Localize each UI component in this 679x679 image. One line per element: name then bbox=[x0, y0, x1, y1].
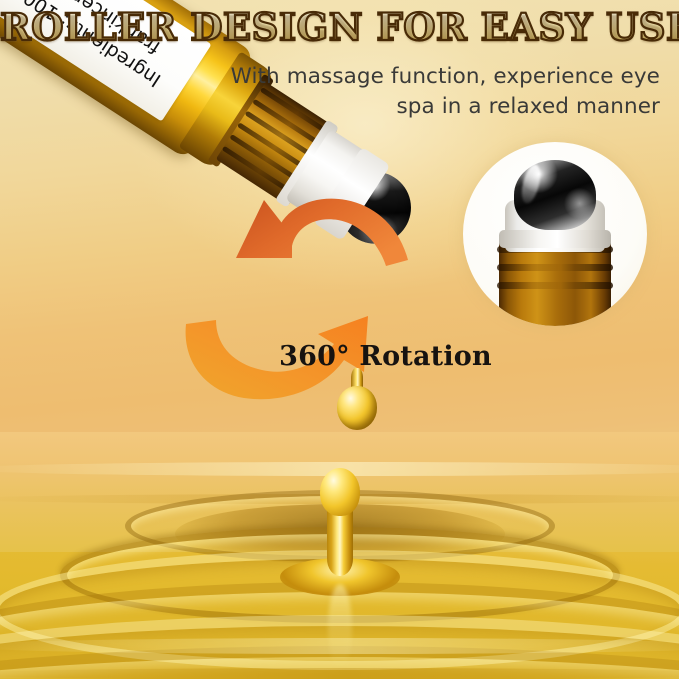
subtitle: With massage function, experience eye sp… bbox=[190, 62, 660, 121]
page-title: ROLLER DESIGN FOR EASY USE bbox=[0, 8, 679, 47]
headline-text: ROLLER DESIGN FOR EASY USE bbox=[0, 8, 679, 47]
subtitle-line-2: spa in a relaxed manner bbox=[190, 92, 660, 122]
oil-splash-reflection bbox=[328, 584, 352, 670]
closeup-roller-collar bbox=[499, 230, 611, 248]
rotation-closeup-inset bbox=[463, 142, 647, 326]
oil-splash-bulb bbox=[320, 468, 360, 516]
product-feature-banner: Ingredients: 100% organic c frankincense… bbox=[0, 0, 679, 679]
droplet-bulb bbox=[337, 386, 377, 430]
rotation-arrow-top bbox=[218, 184, 418, 294]
rotation-caption-text: 360° Rotation bbox=[279, 341, 492, 372]
closeup-neck-thread bbox=[497, 282, 613, 289]
oil-droplet-icon bbox=[335, 368, 379, 430]
closeup-neck-thread bbox=[497, 264, 613, 271]
oil-ripple-scene bbox=[0, 432, 679, 679]
rotation-caption: 360° Rotation bbox=[0, 341, 679, 372]
subtitle-line-1: With massage function, experience eye bbox=[190, 62, 660, 92]
